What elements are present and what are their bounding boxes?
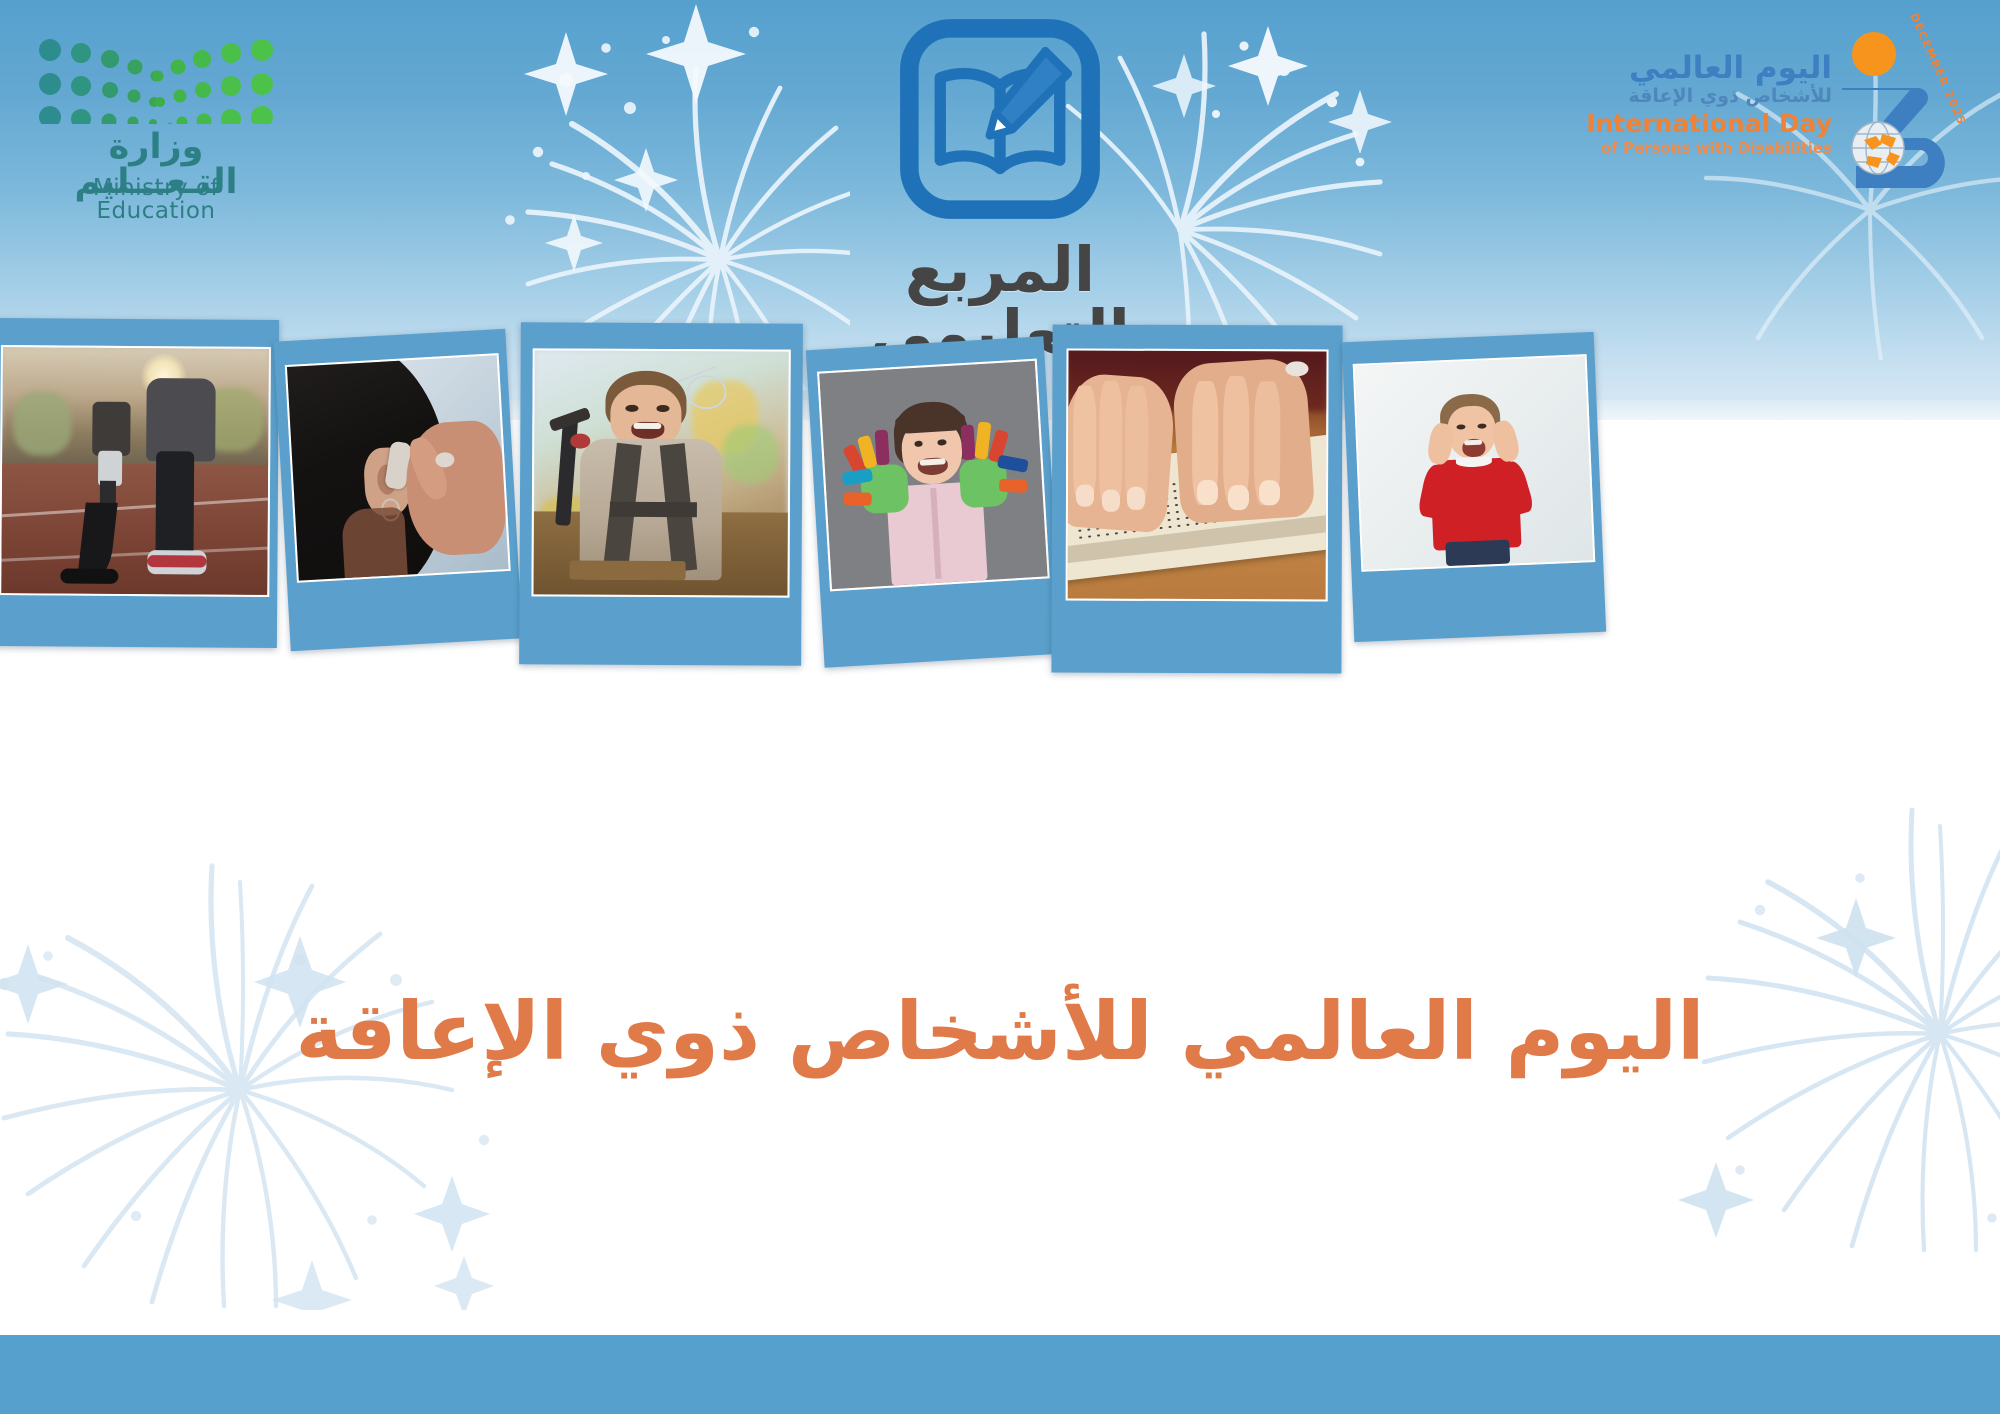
poster-canvas: وزارة التـعـــليم Ministry of Education … <box>0 0 2000 1414</box>
polaroid-frame-girl-painted-hands[interactable] <box>806 336 1062 668</box>
page-headline: اليوم العالمي للأشخاص ذوي الإعاقة <box>0 988 2000 1076</box>
photo-strip <box>0 405 2000 855</box>
polaroid-frame-boy-covering-ears[interactable] <box>1342 332 1606 642</box>
photo-prosthetic-leg-runner <box>0 345 271 597</box>
brand-name-line1: المربع <box>0 238 2000 301</box>
polaroid-frame-hearing-aid[interactable] <box>274 329 523 651</box>
brand-block: المربع التعليمي <box>0 16 2000 364</box>
polaroid-frame-boy-wheelchair[interactable] <box>519 322 803 665</box>
polaroid-frame-braille[interactable] <box>1051 324 1342 673</box>
photo-braille-reading <box>1066 349 1329 602</box>
bottom-color-bar <box>0 1335 2000 1414</box>
polaroid-frame-prosthetic-leg[interactable] <box>0 318 279 648</box>
photo-boy-covering-ears <box>1353 354 1596 572</box>
photo-hearing-aid <box>285 353 511 583</box>
photo-boy-wheelchair <box>531 348 790 597</box>
book-and-pencil-icon <box>897 16 1103 222</box>
photo-girl-painted-hands <box>817 359 1050 592</box>
